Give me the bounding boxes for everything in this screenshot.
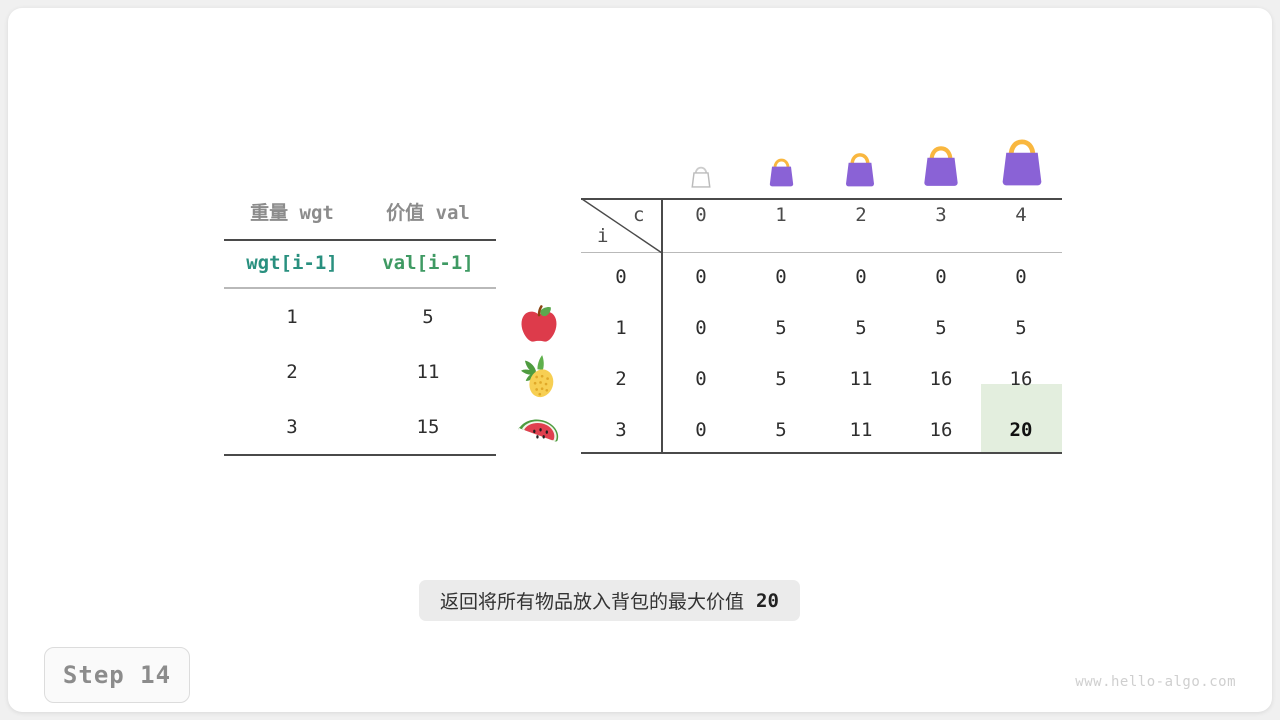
table-row: 2 11 bbox=[224, 344, 496, 399]
bag-icon-1 bbox=[764, 154, 799, 188]
item-table-divider-bottom bbox=[224, 454, 496, 456]
result-caption-value: 20 bbox=[756, 590, 779, 612]
item-val-3: 15 bbox=[360, 416, 496, 438]
item-wgt-1: 1 bbox=[224, 306, 360, 328]
dp-corner-diagonal bbox=[581, 198, 663, 254]
item-table-header-row: 重量 wgt 价值 val bbox=[224, 198, 496, 239]
dp-table-bottom-border bbox=[581, 452, 1062, 454]
item-wgt-2: 2 bbox=[224, 361, 360, 383]
item-table: 重量 wgt 价值 val wgt[i-1] val[i-1] 1 5 2 11… bbox=[224, 198, 496, 456]
item-table-subheader-val: val[i-1] bbox=[360, 252, 496, 274]
dp-corner-label-i: i bbox=[597, 225, 608, 247]
dp-highlight-cell bbox=[981, 384, 1062, 452]
result-caption: 返回将所有物品放入背包的最大价值 20 bbox=[419, 580, 800, 621]
bag-icon-empty bbox=[687, 164, 715, 190]
result-caption-text: 返回将所有物品放入背包的最大价值 bbox=[440, 587, 744, 614]
item-table-header-wgt: 重量 wgt bbox=[224, 198, 360, 239]
bag-icon-4 bbox=[993, 132, 1051, 188]
item-val-1: 5 bbox=[360, 306, 496, 328]
item-table-subheader-row: wgt[i-1] val[i-1] bbox=[224, 241, 496, 287]
bag-icon-2 bbox=[839, 148, 881, 188]
item-wgt-3: 3 bbox=[224, 416, 360, 438]
bag-icon-3 bbox=[916, 140, 966, 188]
watermelon-icon bbox=[514, 404, 564, 454]
item-table-subheader-wgt: wgt[i-1] bbox=[224, 252, 360, 274]
watermark: www.hello-algo.com bbox=[1075, 674, 1236, 690]
pineapple-icon bbox=[514, 352, 564, 402]
dp-table: c i 0 1 2 3 4 0 1 2 3 0 0 0 0 0 0 5 5 5 … bbox=[581, 198, 1062, 454]
item-table-header-val: 价值 val bbox=[360, 198, 496, 239]
slide-card: 重量 wgt 价值 val wgt[i-1] val[i-1] 1 5 2 11… bbox=[8, 8, 1272, 712]
apple-icon bbox=[514, 301, 564, 351]
table-row: 3 15 bbox=[224, 399, 496, 454]
item-val-2: 11 bbox=[360, 361, 496, 383]
table-row: 1 5 bbox=[224, 289, 496, 344]
step-badge: Step 14 bbox=[44, 647, 190, 703]
dp-corner-label-c: c bbox=[633, 204, 644, 226]
